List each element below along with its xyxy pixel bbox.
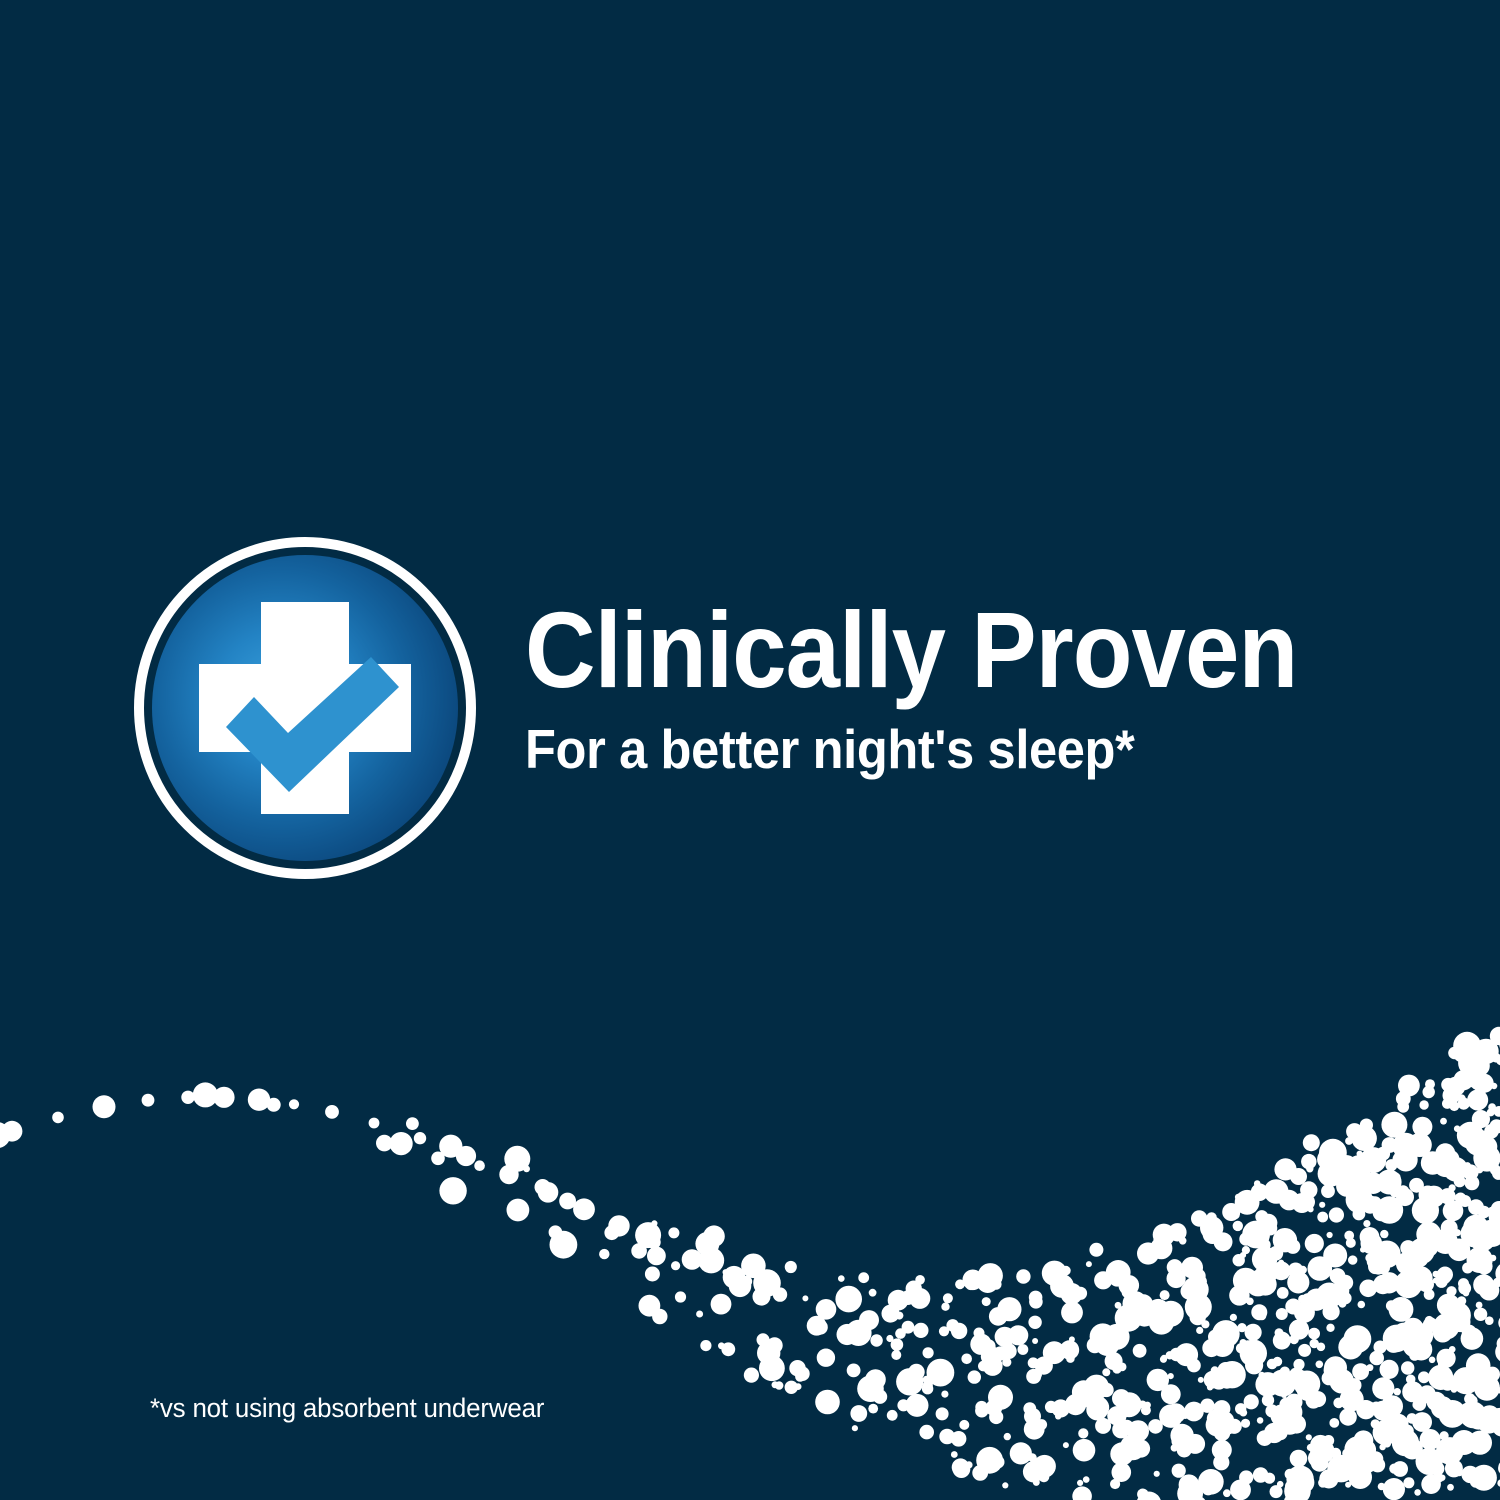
promo-banner: Clinically Proven For a better night's s…	[0, 0, 1500, 1500]
headline-block: Clinically Proven For a better night's s…	[525, 596, 1425, 777]
page-subtitle: For a better night's sleep*	[525, 704, 1353, 777]
wave-dots	[0, 1027, 1500, 1500]
footnote-disclaimer: *vs not using absorbent underwear	[150, 1393, 544, 1424]
clinically-proven-seal	[133, 536, 477, 880]
page-title: Clinically Proven	[525, 596, 1340, 704]
